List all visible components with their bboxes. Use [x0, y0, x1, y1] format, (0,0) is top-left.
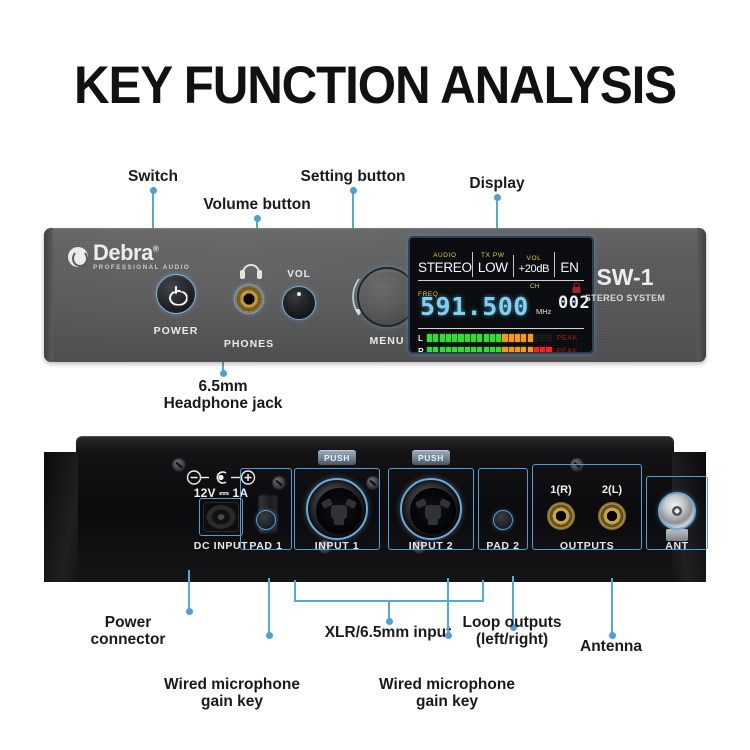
volume-knob[interactable] [282, 286, 316, 320]
rear-panel: 12V ⎓ 1A DC INPUT PAD 1 PUSH INPUT 1 PUS… [44, 436, 706, 582]
trademark-mark: ® [153, 245, 158, 254]
callout-mic-gain-1: Wired microphone gain key [164, 676, 300, 711]
meter-bar [427, 347, 552, 354]
power-icon [169, 287, 184, 302]
frequency-value: 591.500 [420, 292, 529, 321]
output2-label: 2(L) [602, 484, 622, 496]
level-meters: LPEAKRPEAK [418, 333, 584, 354]
callout-mic-gain-2: Wired microphone gain key [379, 676, 515, 711]
input2-push-tab[interactable]: PUSH [412, 450, 450, 465]
meter-row-r: RPEAK [418, 346, 584, 354]
pad2-highlight [478, 468, 528, 550]
input2-xlr-jack[interactable] [400, 478, 462, 540]
callout-setting-button: Setting button [300, 168, 405, 185]
front-panel-right-edge [697, 228, 706, 362]
frequency-unit: MHz [536, 307, 551, 316]
callout-power-connector: Power connector [91, 614, 166, 649]
model-subtitle: STEREO SYSTEM [570, 293, 680, 303]
callout-loop-outputs: Loop outputs (left/right) [463, 614, 562, 649]
input1-push-tab[interactable]: PUSH [318, 450, 356, 465]
callout-volume-button: Volume button [203, 196, 310, 213]
phones-jack[interactable] [234, 284, 264, 314]
meter-row-l: LPEAK [418, 333, 584, 343]
callout-switch: Switch [128, 168, 178, 185]
status-tx-power: TX PW LOW [472, 252, 513, 277]
input1-xlr-jack[interactable] [306, 478, 368, 540]
model-badge: SW-1 STEREO SYSTEM [570, 264, 680, 303]
leader-xlr-right [482, 580, 484, 601]
diagram-canvas: KEY FUNCTION ANALYSIS Switch Volume butt… [0, 0, 750, 750]
display-frequency-row: FREQ CH 591.500 MHz 002 [418, 283, 584, 327]
leader-xlr-input [388, 600, 390, 622]
meter-channel-label: L [418, 334, 427, 343]
front-panel: Debra® PROFESSIONAL AUDIO POWER PHONES V… [44, 228, 706, 362]
meter-peak-label: PEAK [557, 335, 578, 342]
page-title: KEY FUNCTION ANALYSIS [26, 55, 724, 116]
outputs-highlight [532, 464, 642, 550]
callout-display: Display [469, 175, 524, 192]
menu-label: MENU [370, 335, 405, 347]
display-status-row: AUDIO STEREO TX PW LOW VOL +20dB EN [418, 245, 584, 277]
leader-antenna [611, 578, 613, 636]
vol-label: VOL [287, 269, 311, 280]
chassis-screw [172, 458, 186, 472]
rear-panel-left-bevel [44, 452, 78, 582]
output1-label: 1(R) [550, 484, 571, 496]
phones-label: PHONES [224, 338, 274, 350]
pad1-button[interactable] [256, 510, 276, 530]
front-panel-left-edge [44, 228, 53, 362]
callout-xlr-input: XLR/6.5mm input [325, 624, 452, 641]
dc-input-jack[interactable] [203, 502, 239, 532]
brand-name: Debra® [93, 242, 190, 264]
meter-channel-label: R [418, 347, 427, 355]
display-screen: AUDIO STEREO TX PW LOW VOL +20dB EN [408, 236, 594, 354]
leader-power-connector [188, 570, 190, 612]
callout-antenna: Antenna [580, 638, 642, 655]
input1-label: INPUT 1 [315, 540, 359, 552]
output1-jack[interactable] [547, 502, 575, 530]
power-button[interactable] [156, 274, 196, 314]
brand-logo: Debra® PROFESSIONAL AUDIO [68, 242, 190, 271]
output2-jack[interactable] [598, 502, 626, 530]
pad1-highlight [240, 468, 292, 550]
meter-peak-label: PEAK [557, 348, 578, 355]
leader-xlr-left [294, 580, 296, 601]
antenna-label: ANT [665, 540, 688, 552]
pad2-label: PAD 2 [486, 540, 519, 552]
pad1-label: PAD 1 [249, 540, 282, 552]
model-name: SW-1 [570, 264, 680, 291]
debra-logo-icon [68, 247, 88, 267]
antenna-bnc-connector[interactable] [658, 492, 696, 530]
status-volume: VOL +20dB [513, 255, 554, 277]
brand-tagline: PROFESSIONAL AUDIO [93, 265, 190, 271]
leader-mic-gain-1 [268, 578, 270, 636]
input2-label: INPUT 2 [409, 540, 453, 552]
display-divider-top [418, 280, 584, 281]
callout-headphone-jack: 6.5mm Headphone jack [164, 378, 283, 413]
power-label: POWER [154, 325, 199, 337]
meter-bar [427, 334, 552, 342]
headphones-icon [240, 264, 262, 279]
outputs-group-label: OUTPUTS [560, 540, 614, 552]
channel-label: CH [530, 283, 539, 290]
leader-mic-gain-2 [447, 578, 449, 636]
display-divider-bottom [418, 328, 584, 329]
status-audio: AUDIO STEREO [418, 252, 472, 277]
pad2-button[interactable] [493, 510, 513, 530]
